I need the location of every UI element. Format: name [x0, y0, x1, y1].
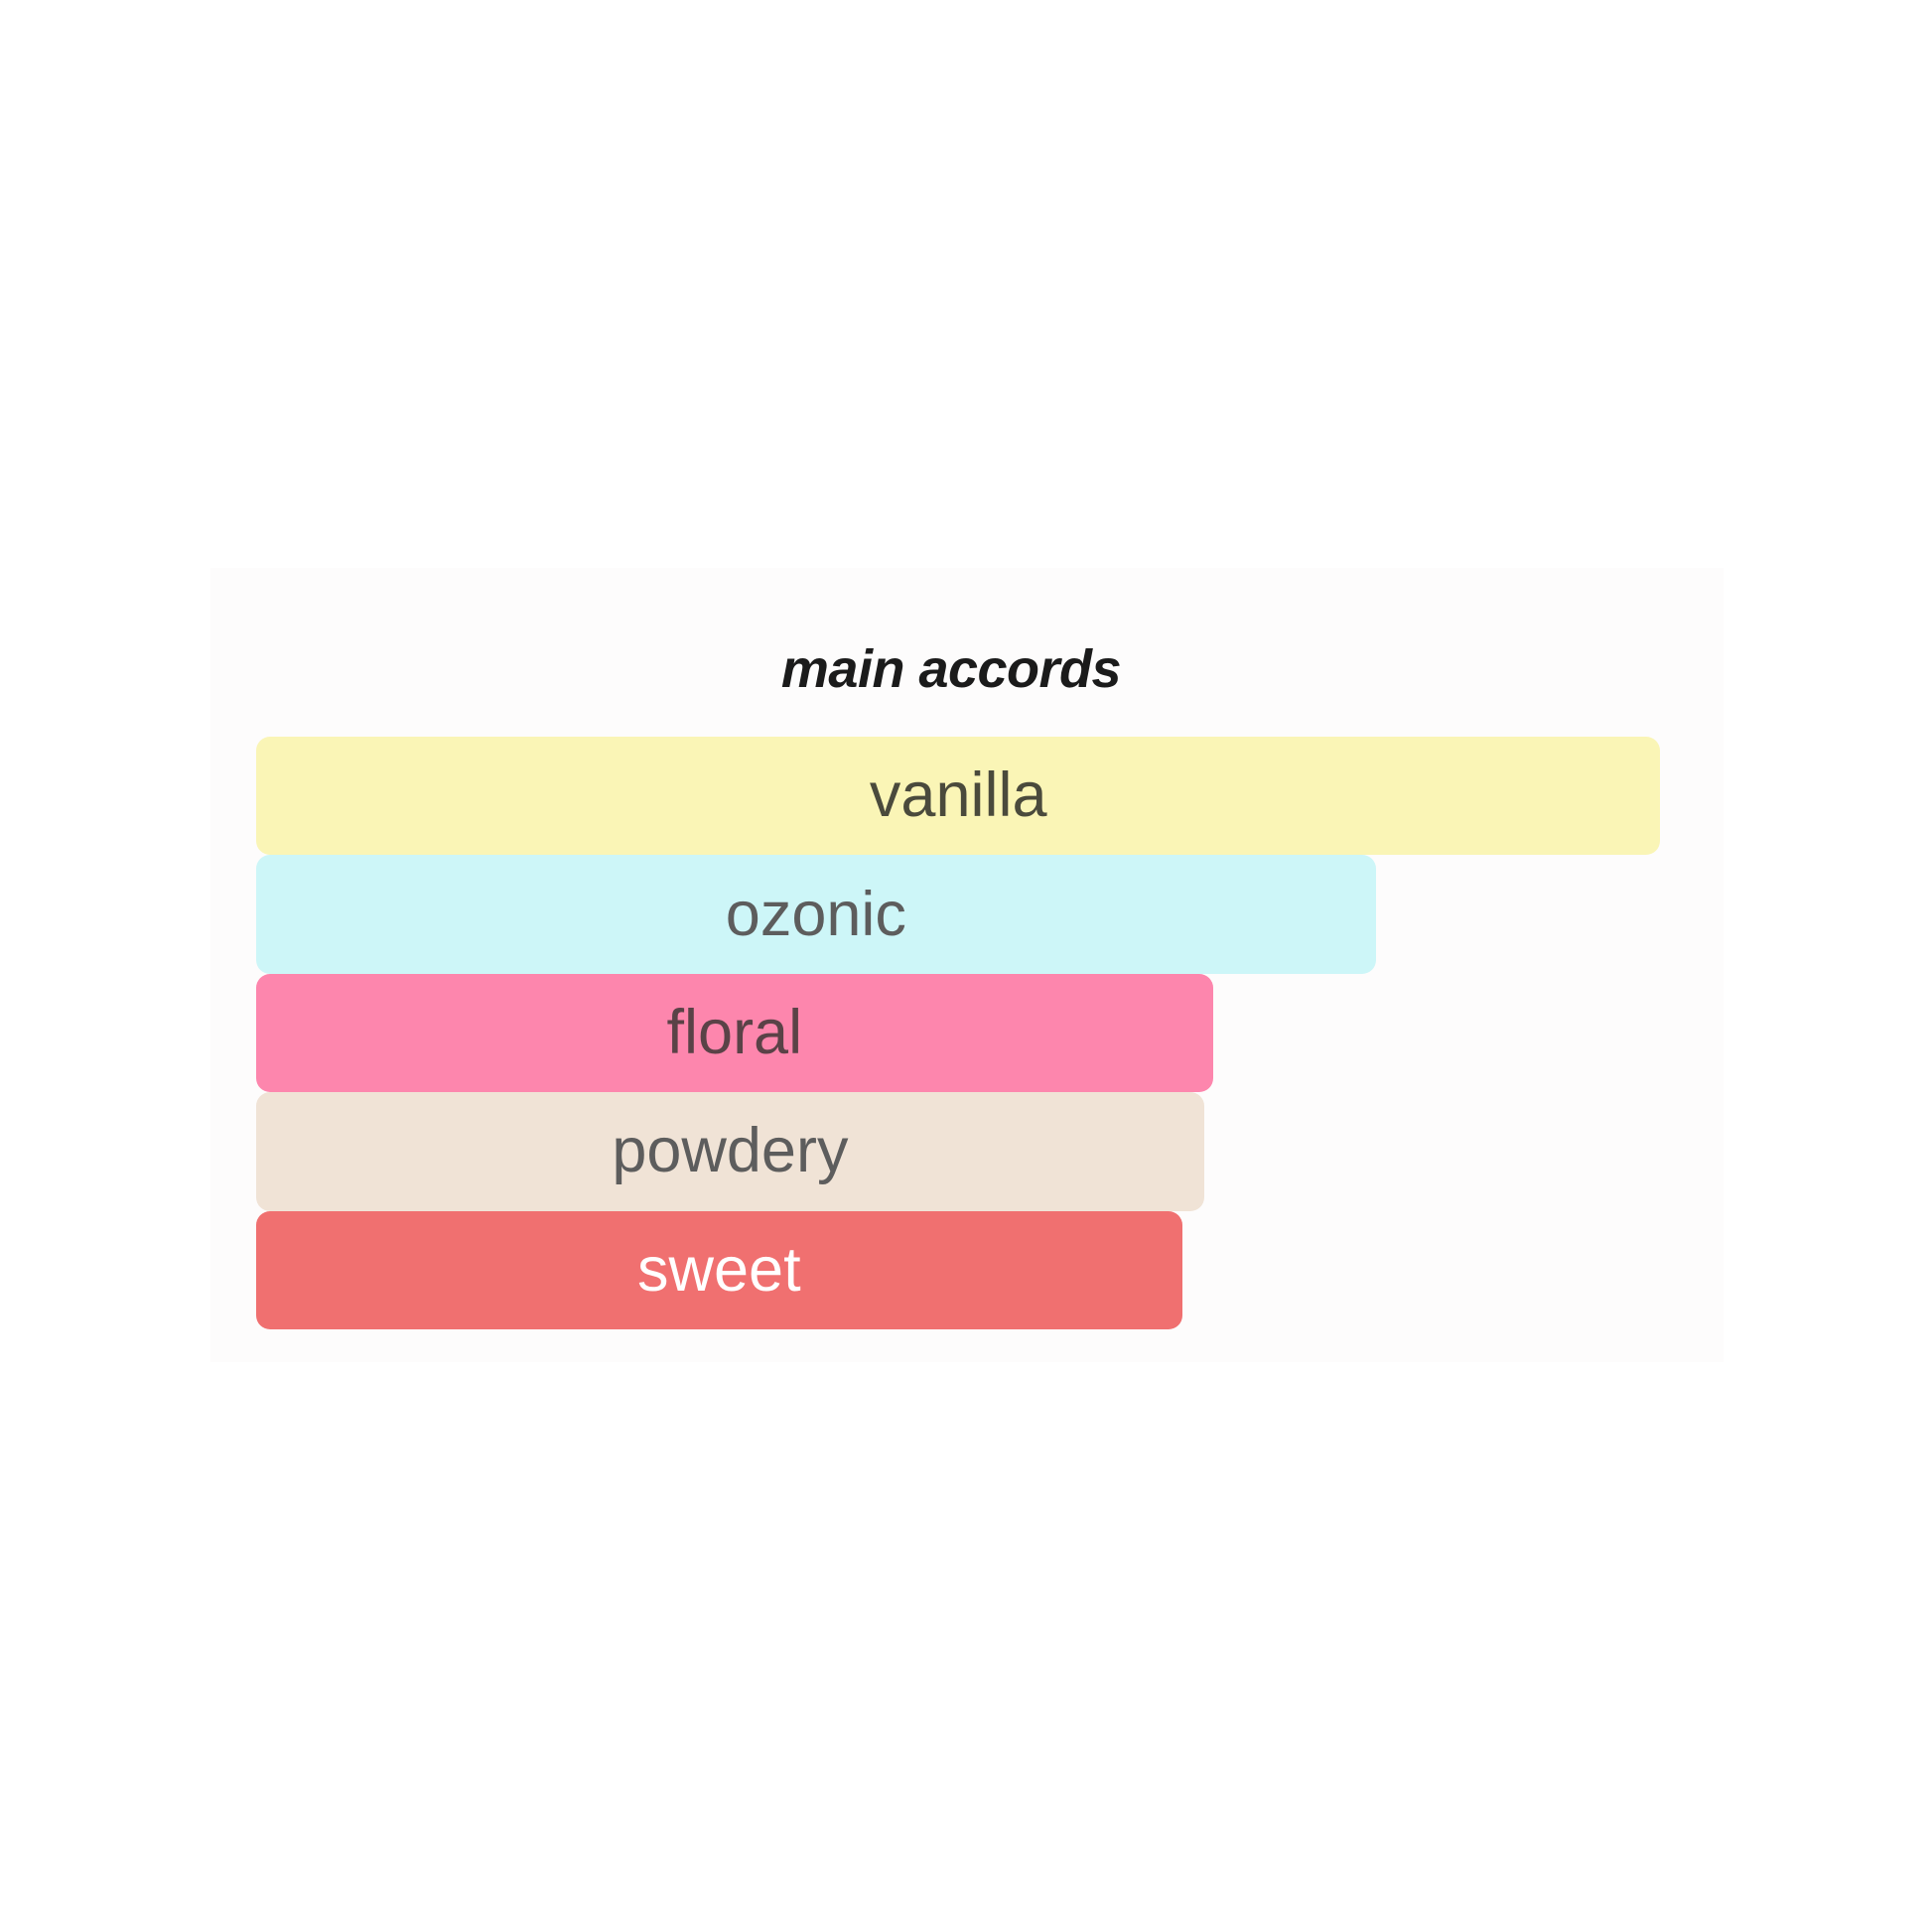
page-title: main accords — [195, 642, 1708, 696]
accord-bar-ozonic[interactable]: ozonic — [256, 855, 1376, 973]
accord-bar-floral[interactable]: floral — [256, 974, 1213, 1092]
accord-bar-sweet[interactable]: sweet — [256, 1211, 1182, 1329]
accord-label-ozonic: ozonic — [726, 884, 906, 946]
main-accords-card: main accords vanilla ozonic floral powde… — [210, 568, 1724, 1362]
accord-bar-powdery[interactable]: powdery — [256, 1092, 1204, 1210]
page-root: main accords vanilla ozonic floral powde… — [0, 0, 1932, 1932]
accord-label-powdery: powdery — [612, 1120, 848, 1182]
accord-label-floral: floral — [667, 1002, 803, 1064]
accord-label-vanilla: vanilla — [870, 764, 1047, 827]
accords-bar-chart: vanilla ozonic floral powdery sweet — [256, 737, 1724, 1329]
accord-label-sweet: sweet — [637, 1239, 801, 1302]
accord-bar-vanilla[interactable]: vanilla — [256, 737, 1660, 855]
